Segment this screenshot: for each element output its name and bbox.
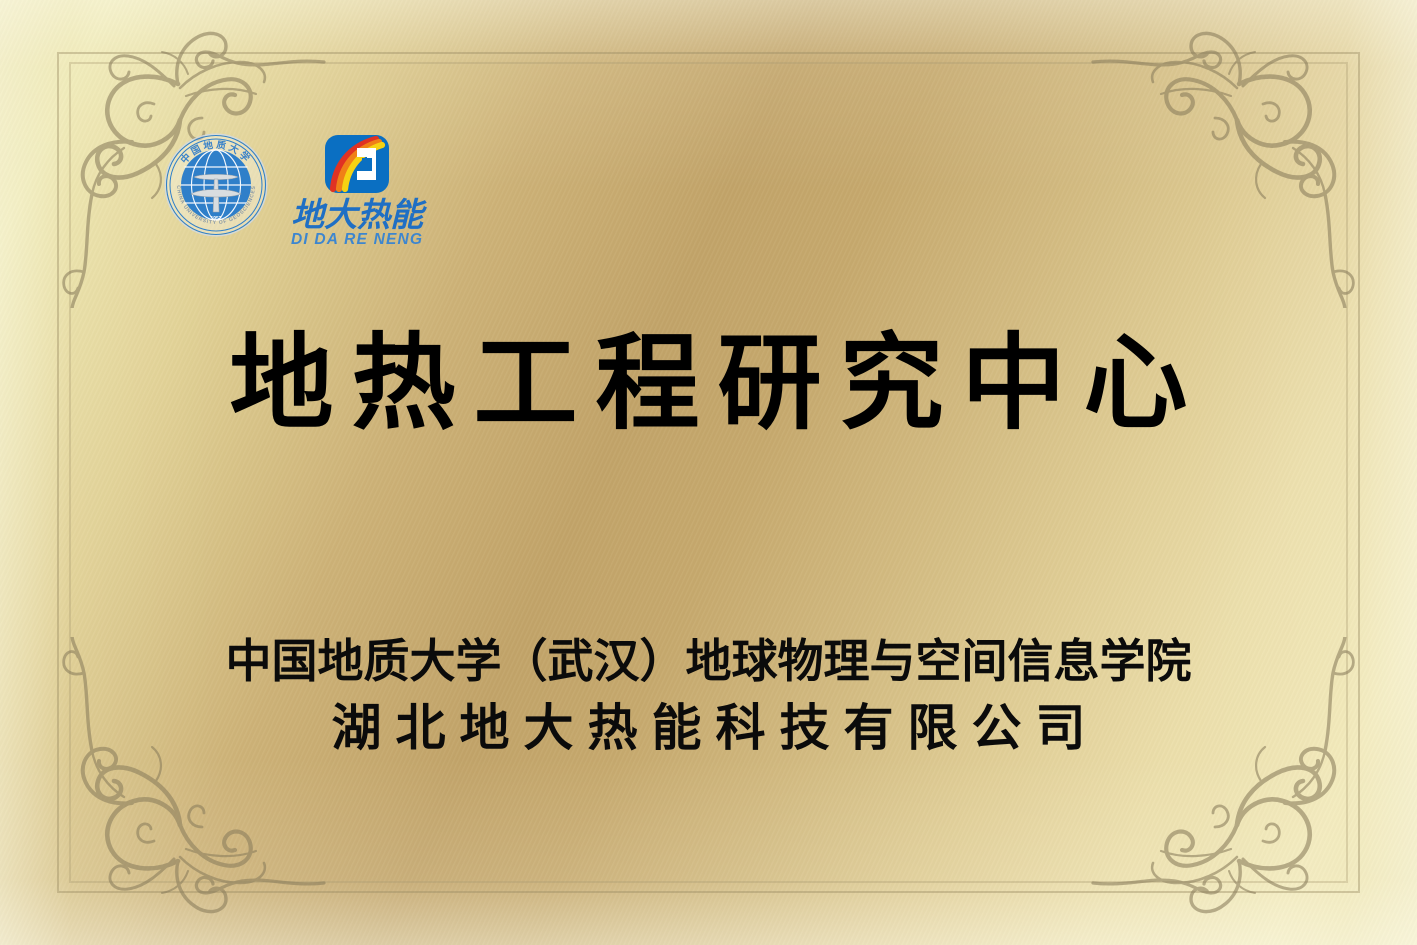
logo-row: 中国地质大学 CHINA UNIVERSITY OF GEOSCIENCES 1… (163, 132, 423, 248)
china-university-of-geosciences-seal-icon: 中国地质大学 CHINA UNIVERSITY OF GEOSCIENCES 1… (163, 132, 269, 238)
plaque-subtitles: 中国地质大学（武汉）地球物理与空间信息学院 湖北地大热能科技有限公司 (0, 636, 1417, 756)
seal-year: 1952 (210, 216, 221, 222)
award-plaque: 中国地质大学 CHINA UNIVERSITY OF GEOSCIENCES 1… (0, 0, 1417, 945)
didareneng-logo: 地大热能 DI DA RE NENG (291, 132, 423, 248)
didareneng-mark-icon (324, 134, 390, 196)
plaque-subtitle-university: 中国地质大学（武汉）地球物理与空间信息学院 (0, 636, 1417, 688)
ornament-top-right-icon (1089, 18, 1389, 308)
plaque-subtitle-company: 湖北地大热能科技有限公司 (0, 700, 1417, 756)
didareneng-name-en: DI DA RE NENG (291, 232, 423, 248)
didareneng-name-cn: 地大热能 (291, 198, 423, 231)
plaque-headline: 地热工程研究中心 (0, 327, 1417, 439)
